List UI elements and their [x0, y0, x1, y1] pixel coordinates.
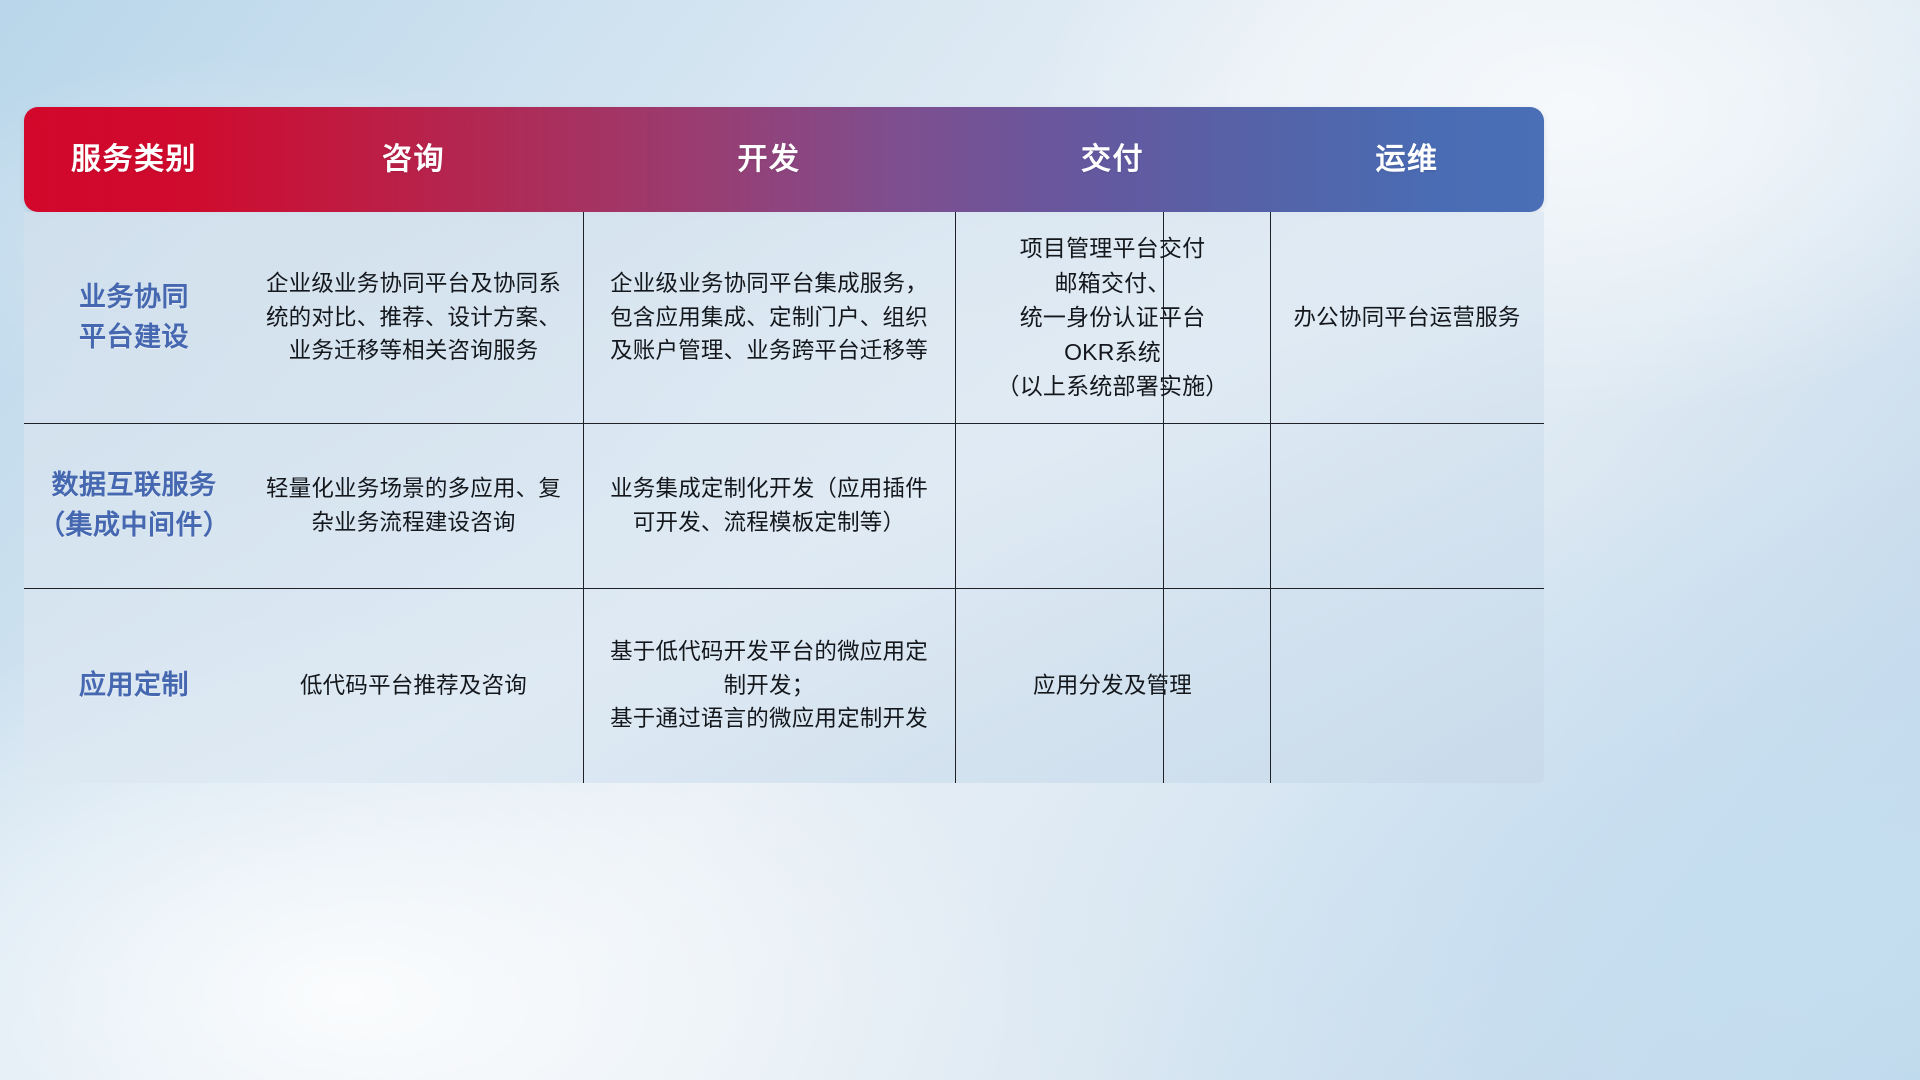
table-row: 业务协同 平台建设 企业级业务协同平台及协同系 统的对比、推荐、设计方案、 业务…: [24, 212, 1544, 423]
cell-text: 基于低代码开发平台的微应用定 制开发； 基于通过语言的微应用定制开发: [610, 635, 928, 736]
cell-delivery: 项目管理平台交付 邮箱交付、 统一身份认证平台 OKR系统 （以上系统部署实施）: [955, 212, 1270, 423]
cell-text: 应用分发及管理: [1033, 669, 1192, 703]
column-header-category: 服务类别: [24, 142, 244, 178]
row-label-cell: 数据互联服务 （集成中间件）: [24, 423, 244, 588]
cell-development: 基于低代码开发平台的微应用定 制开发； 基于通过语言的微应用定制开发: [583, 588, 955, 783]
cell-text: 业务集成定制化开发（应用插件 可开发、流程模板定制等）: [610, 472, 928, 540]
cell-consulting: 低代码平台推荐及咨询: [244, 588, 583, 783]
cell-consulting: 企业级业务协同平台及协同系 统的对比、推荐、设计方案、 业务迁移等相关咨询服务: [244, 212, 583, 423]
row-label-cell: 业务协同 平台建设: [24, 212, 244, 423]
table-header-row: 服务类别 咨询 开发 交付 运维: [24, 107, 1544, 212]
column-header-consulting: 咨询: [244, 142, 583, 178]
cell-text: 企业级业务协同平台集成服务， 包含应用集成、定制门户、组织 及账户管理、业务跨平…: [610, 267, 928, 368]
cell-consulting: 轻量化业务场景的多应用、复 杂业务流程建设咨询: [244, 423, 583, 588]
column-header-development: 开发: [583, 142, 955, 178]
table-row: 数据互联服务 （集成中间件） 轻量化业务场景的多应用、复 杂业务流程建设咨询 业…: [24, 423, 1544, 588]
row-label-cell: 应用定制: [24, 588, 244, 783]
cell-operations: [1270, 423, 1544, 588]
cell-text: 轻量化业务场景的多应用、复 杂业务流程建设咨询: [266, 472, 561, 540]
cell-development: 企业级业务协同平台集成服务， 包含应用集成、定制门户、组织 及账户管理、业务跨平…: [583, 212, 955, 423]
row-label-text: 数据互联服务 （集成中间件）: [38, 466, 230, 544]
row-label-text: 应用定制: [79, 666, 189, 705]
cell-development: 业务集成定制化开发（应用插件 可开发、流程模板定制等）: [583, 423, 955, 588]
cell-text: 办公协同平台运营服务: [1293, 301, 1520, 335]
table-body: 业务协同 平台建设 企业级业务协同平台及协同系 统的对比、推荐、设计方案、 业务…: [24, 212, 1544, 783]
cell-delivery: 应用分发及管理: [955, 588, 1270, 783]
row-label-text: 业务协同 平台建设: [79, 278, 189, 356]
cell-text: 项目管理平台交付 邮箱交付、 统一身份认证平台 OKR系统 （以上系统部署实施）: [997, 231, 1229, 404]
column-header-delivery: 交付: [955, 142, 1270, 178]
cell-text: 企业级业务协同平台及协同系 统的对比、推荐、设计方案、 业务迁移等相关咨询服务: [266, 267, 561, 368]
cell-operations: [1270, 588, 1544, 783]
cell-text: 低代码平台推荐及咨询: [300, 669, 527, 703]
cell-delivery: [955, 423, 1270, 588]
table-row: 应用定制 低代码平台推荐及咨询 基于低代码开发平台的微应用定 制开发； 基于通过…: [24, 588, 1544, 783]
cell-operations: 办公协同平台运营服务: [1270, 212, 1544, 423]
service-matrix-table: 服务类别 咨询 开发 交付 运维 业务协同 平台建设 企业级业务协同平台及协同系…: [24, 107, 1544, 783]
column-header-operations: 运维: [1270, 142, 1544, 178]
